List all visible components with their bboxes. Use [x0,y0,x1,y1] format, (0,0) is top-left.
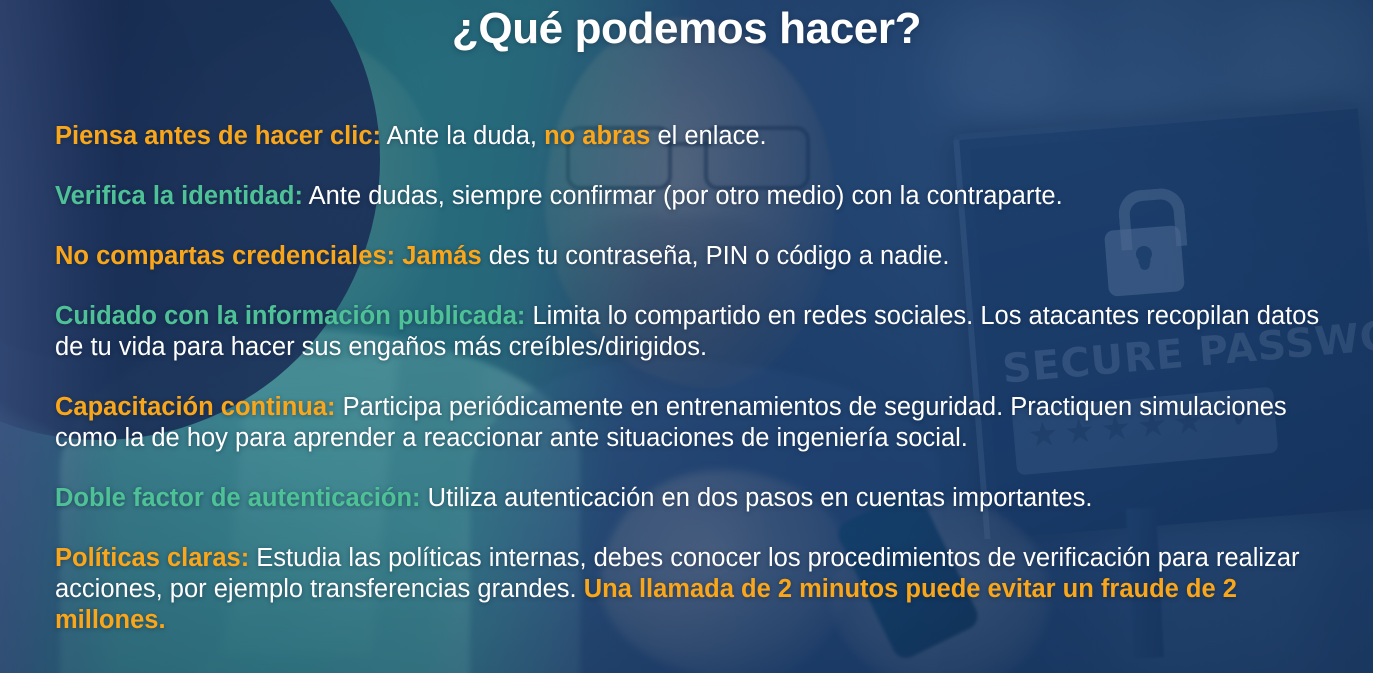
bullet-item: Doble factor de autenticación: Utiliza a… [55,483,1349,514]
bullet-lead: Políticas claras: [55,544,249,572]
bullet-lead: Verifica la identidad: [55,182,303,210]
bullet-emphasis: no abras [544,122,650,150]
bullet-text: Ante dudas, siempre confirmar (por otro … [303,182,1063,210]
bullet-lead: Doble factor de autenticación: [55,484,421,512]
bullet-item: Políticas claras: Estudia las políticas … [55,543,1349,636]
bullet-text: Utiliza autenticación en dos pasos en cu… [421,484,1093,512]
bullet-item: Piensa antes de hacer clic: Ante la duda… [55,121,1349,152]
bullet-list: Piensa antes de hacer clic: Ante la duda… [55,95,1349,636]
slide-content: ¿Qué podemos hacer? Piensa antes de hace… [0,0,1373,673]
bullet-text: Ante la duda, [381,122,544,150]
slide-title: ¿Qué podemos hacer? [0,4,1373,54]
bullet-item: Verifica la identidad: Ante dudas, siemp… [55,181,1349,212]
bullet-item: No compartas credenciales: Jamás des tu … [55,241,1349,272]
bullet-text: des tu contraseña, PIN o código a nadie. [482,242,950,270]
bullet-lead: Capacitación continua: [55,393,336,421]
bullet-lead: Piensa antes de hacer clic: [55,122,381,150]
presentation-slide: SECURE PASSWORD ★★★★★ ✓ ¿Qué podemos hac… [0,0,1373,673]
bullet-item: Cuidado con la información publicada: Li… [55,301,1349,363]
bullet-lead: Cuidado con la información publicada: [55,302,525,330]
bullet-lead: No compartas credenciales: Jamás [55,242,482,270]
bullet-text: el enlace. [650,122,766,150]
bullet-item: Capacitación continua: Participa periódi… [55,392,1349,454]
